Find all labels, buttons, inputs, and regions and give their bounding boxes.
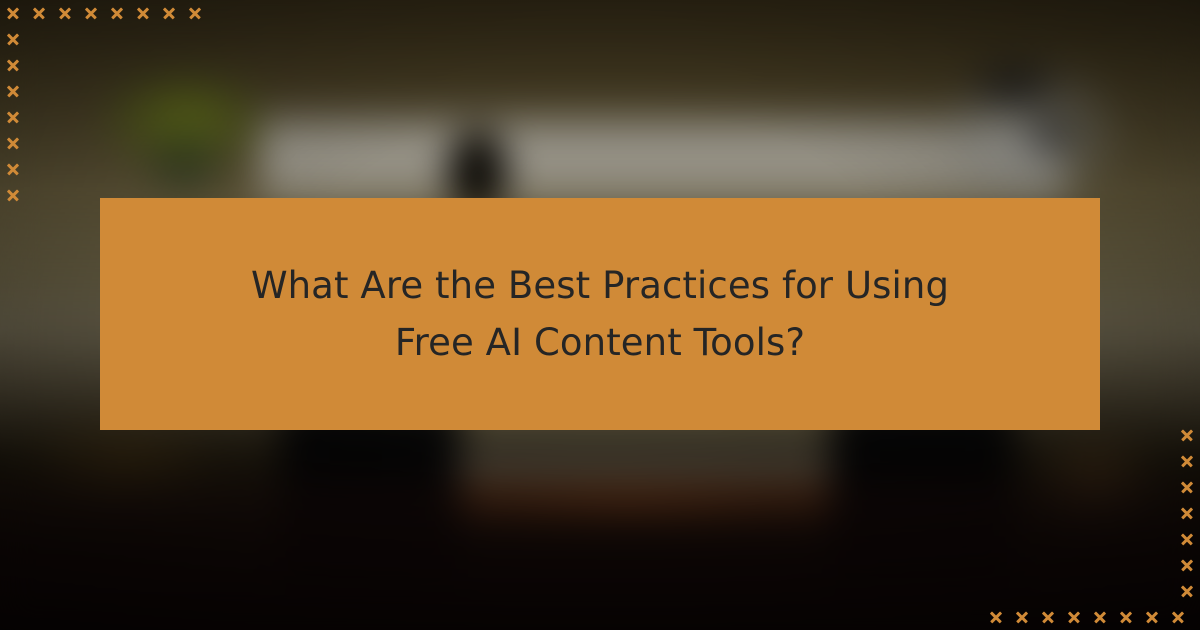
title-banner: What Are the Best Practices for Using Fr…: [100, 198, 1100, 430]
page-title: What Are the Best Practices for Using Fr…: [210, 257, 990, 372]
social-share-card: What Are the Best Practices for Using Fr…: [0, 0, 1200, 630]
